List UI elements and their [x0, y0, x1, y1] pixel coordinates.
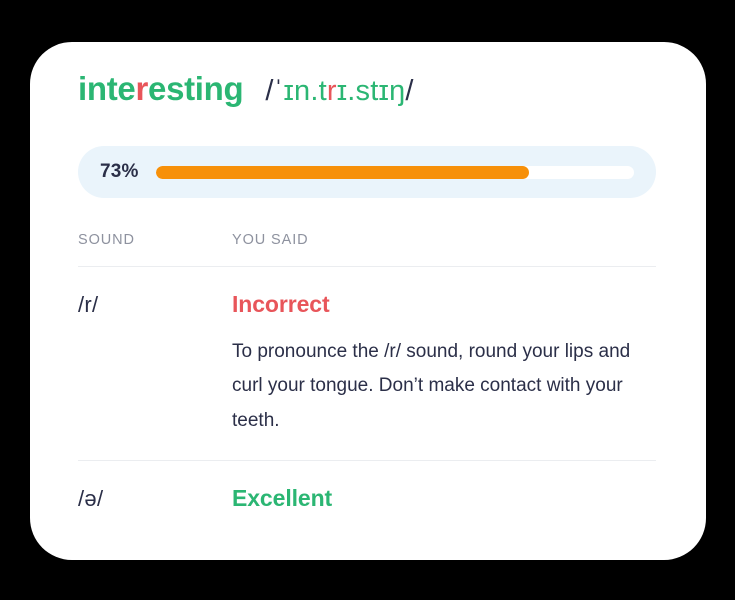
ipa-segment-error: r	[327, 75, 337, 107]
status-badge: Excellent	[232, 485, 656, 513]
column-header-sound: SOUND	[78, 232, 232, 248]
headword-segment-normal-1: inte	[78, 70, 135, 107]
status-badge: Incorrect	[232, 291, 656, 319]
ipa-stress-mark: ˈ	[274, 75, 284, 107]
headword-row: interesting /ˈɪn.trɪ.stɪŋ/	[78, 70, 414, 108]
ipa-segment-pre: ɪn.t	[284, 75, 327, 107]
sound-cell: /ə/	[78, 485, 232, 513]
sounds-table-header: SOUND YOU SAID	[78, 232, 656, 266]
ipa-open-slash: /	[265, 75, 273, 107]
feedback-cell: Incorrect To pronounce the /r/ sound, ro…	[232, 291, 656, 438]
table-row[interactable]: /ə/ Excellent	[78, 461, 656, 535]
progress-fill	[156, 166, 529, 179]
ipa-close-slash: /	[405, 75, 413, 107]
pronunciation-feedback-card: interesting /ˈɪn.trɪ.stɪŋ/ 73% SOUND YOU…	[30, 42, 706, 560]
headword-segment-normal-2: esting	[148, 70, 243, 107]
sound-cell: /r/	[78, 291, 232, 438]
sounds-table: SOUND YOU SAID /r/ Incorrect To pronounc…	[78, 232, 656, 535]
app-screen: interesting /ˈɪn.trɪ.stɪŋ/ 73% SOUND YOU…	[0, 0, 735, 600]
ipa-segment-post: ɪ.stɪŋ	[337, 75, 406, 107]
headword-segment-error: r	[135, 70, 148, 107]
feedback-cell: Excellent	[232, 485, 656, 513]
progress-track	[156, 166, 634, 179]
score-progress-panel: 73%	[78, 146, 656, 198]
sound-symbol: /r/	[78, 291, 232, 319]
headword: interesting	[78, 70, 243, 108]
column-header-you-said: YOU SAID	[232, 232, 656, 248]
table-row[interactable]: /r/ Incorrect To pronounce the /r/ sound…	[78, 267, 656, 460]
ipa-transcription: /ˈɪn.trɪ.stɪŋ/	[265, 75, 413, 108]
pronunciation-tip: To pronounce the /r/ sound, round your l…	[232, 335, 656, 439]
sound-symbol: /ə/	[78, 485, 232, 513]
score-percentage-label: 73%	[100, 161, 139, 183]
